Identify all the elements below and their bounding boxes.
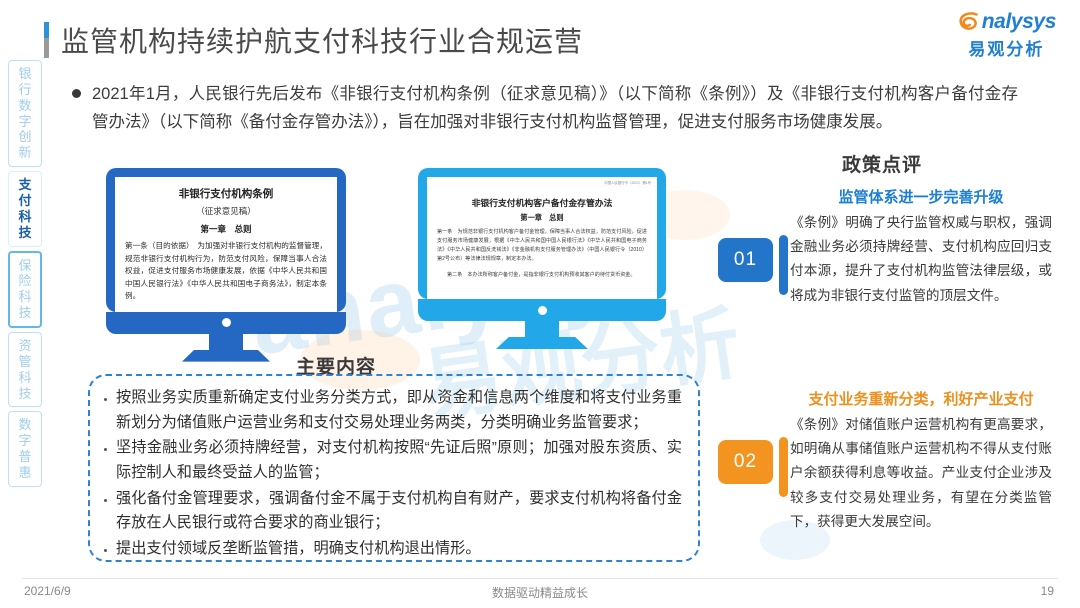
footer-slogan: 数据驱动精益成长 — [0, 584, 1080, 601]
list-item: 强化备付金管理要求，强调备付金不属于支付机构自有财产，要求支付机构将备付金存放在… — [104, 487, 682, 536]
sidebar-item-asset-management-tech[interactable]: 资 管 科 技 — [8, 332, 42, 407]
sidebar-item-digital-inclusive-finance[interactable]: 数 字 普 惠 — [8, 411, 42, 486]
policy-review-block-1: 监管体系进一步完善升级 《条例》明确了央行监管权威与职权，强调金融业务必须持牌经… — [790, 186, 1052, 308]
bullet-dot-icon — [72, 89, 81, 98]
accent-bar-orange — [779, 437, 788, 497]
monitor-regulation-draft: 非银行支付机构条例 （征求意见稿） 第一章 总则 第一条（目的依据） 为加强对非… — [106, 168, 346, 362]
policy-review-heading-1: 监管体系进一步完善升级 — [790, 186, 1052, 207]
footer-divider — [22, 578, 1058, 579]
page-title: 监管机构持续护航支付科技行业合规运营 — [61, 20, 583, 60]
bullet-square-icon — [104, 448, 107, 451]
bullet-square-icon — [104, 549, 107, 552]
policy-review-body-2: 《条例》对储值账户运营机构有更高要求，如明确从事储值账户运营机构不得从支付账户余… — [790, 413, 1052, 534]
monitor-screen: 中国人民银行令〔2021〕第1号 非银行支付机构客户备付金存管办法 第一章 总则… — [427, 177, 657, 299]
bullet-square-icon — [104, 499, 107, 502]
policy-review-title: 政策点评 — [842, 150, 922, 177]
doc-chapter: 第一章 总则 — [437, 213, 647, 223]
logo-chinese: 易观分析 — [957, 35, 1056, 60]
analysys-logo: nalysys 易观分析 — [957, 10, 1056, 60]
monitor-frame: 中国人民银行令〔2021〕第1号 非银行支付机构客户备付金存管办法 第一章 总则… — [418, 168, 666, 299]
sidebar-item-payment-tech[interactable]: 支 付 科 技 — [8, 171, 42, 246]
badge-01: 01 — [718, 238, 773, 282]
logo-wordmark: nalysys — [982, 10, 1056, 34]
bullet-square-icon — [104, 398, 107, 401]
badge-02: 02 — [718, 440, 773, 484]
policy-review-body-1: 《条例》明确了央行监管权威与职权，强调金融业务必须持牌经营、支付机构应回归支付本… — [790, 211, 1052, 308]
policy-review-block-2: 支付业务重新分类，利好产业支付 《条例》对储值账户运营机构有更高要求，如明确从事… — [790, 388, 1052, 534]
doc-chapter: 第一章 总则 — [125, 223, 327, 235]
list-item: 按照业务实质重新确定支付业务分类方式，即从资金和信息两个维度和将支付业务重新划分… — [104, 386, 682, 435]
accent-bar-blue — [779, 235, 788, 295]
slide-canvas: analysys 易观分析 监管机构持续护航支付科技行业合规运营 nalysys… — [0, 0, 1080, 608]
list-item: 坚持金融业务必须持牌经营，对支付机构按照“先证后照”原则；加强对股东资质、实际控… — [104, 436, 682, 485]
monitor-chin — [106, 312, 346, 334]
monitor-base — [496, 337, 588, 349]
monitor-base — [182, 350, 270, 362]
doc-title: 非银行支付机构客户备付金存管办法 — [437, 196, 647, 209]
monitor-neck — [525, 321, 559, 337]
monitor-frame: 非银行支付机构条例 （征求意见稿） 第一章 总则 第一条（目的依据） 为加强对非… — [106, 168, 346, 312]
doc-title: 非银行支付机构条例 — [125, 186, 327, 201]
footer-page-number: 19 — [1041, 584, 1054, 598]
list-item: 提出支付领域反垄断监管措，明确支付机构退出情形。 — [104, 537, 682, 562]
monitor-custody-rules: 中国人民银行令〔2021〕第1号 非银行支付机构客户备付金存管办法 第一章 总则… — [418, 168, 666, 349]
title-accent-bar — [44, 22, 49, 58]
policy-review-heading-2: 支付业务重新分类，利好产业支付 — [790, 388, 1052, 409]
doc-subtitle: （征求意见稿） — [125, 205, 327, 217]
monitor-power-dot-icon — [538, 306, 547, 315]
logo-swoosh-icon — [957, 10, 981, 34]
sidebar: 银 行 数 字 创 新 支 付 科 技 保 险 科 技 资 管 科 技 数 字 — [8, 60, 42, 487]
doc-body-2: 第二条 本办法所称客户备付金，是指非银行支付机构预收其客户的待付货币资金。 — [437, 271, 647, 280]
sidebar-item-insurance-tech[interactable]: 保 险 科 技 — [8, 251, 42, 328]
doc-body: 第一条（目的依据） 为加强对非银行支付机构的监督管理，规范非银行支付机构行为，防… — [125, 240, 327, 303]
main-content-list: 按照业务实质重新确定支付业务分类方式，即从资金和信息两个维度和将支付业务重新划分… — [104, 386, 682, 561]
sidebar-item-bank-digital-innovation[interactable]: 银 行 数 字 创 新 — [8, 60, 42, 167]
main-content-box: 按照业务实质重新确定支付业务分类方式，即从资金和信息两个维度和将支付业务重新划分… — [88, 374, 700, 562]
lead-paragraph: 2021年1月，人民银行先后发布《非银行支付机构条例（征求意见稿）》（以下简称《… — [72, 80, 1018, 137]
monitor-screen: 非银行支付机构条例 （征求意见稿） 第一章 总则 第一条（目的依据） 为加强对非… — [115, 177, 337, 312]
lead-text: 2021年1月，人民银行先后发布《非银行支付机构条例（征求意见稿）》（以下简称《… — [92, 80, 1018, 137]
monitor-chin — [418, 299, 666, 321]
monitor-neck — [209, 334, 243, 350]
monitor-power-dot-icon — [222, 318, 231, 327]
doc-body: 第一条 为规范非银行支付机构客户备付金管理，保障当事人合法权益，防范支付风险，促… — [437, 228, 647, 265]
page-title-row: 监管机构持续护航支付科技行业合规运营 — [44, 20, 583, 60]
doc-stamp: 中国人民银行令〔2021〕第1号 — [604, 180, 651, 185]
